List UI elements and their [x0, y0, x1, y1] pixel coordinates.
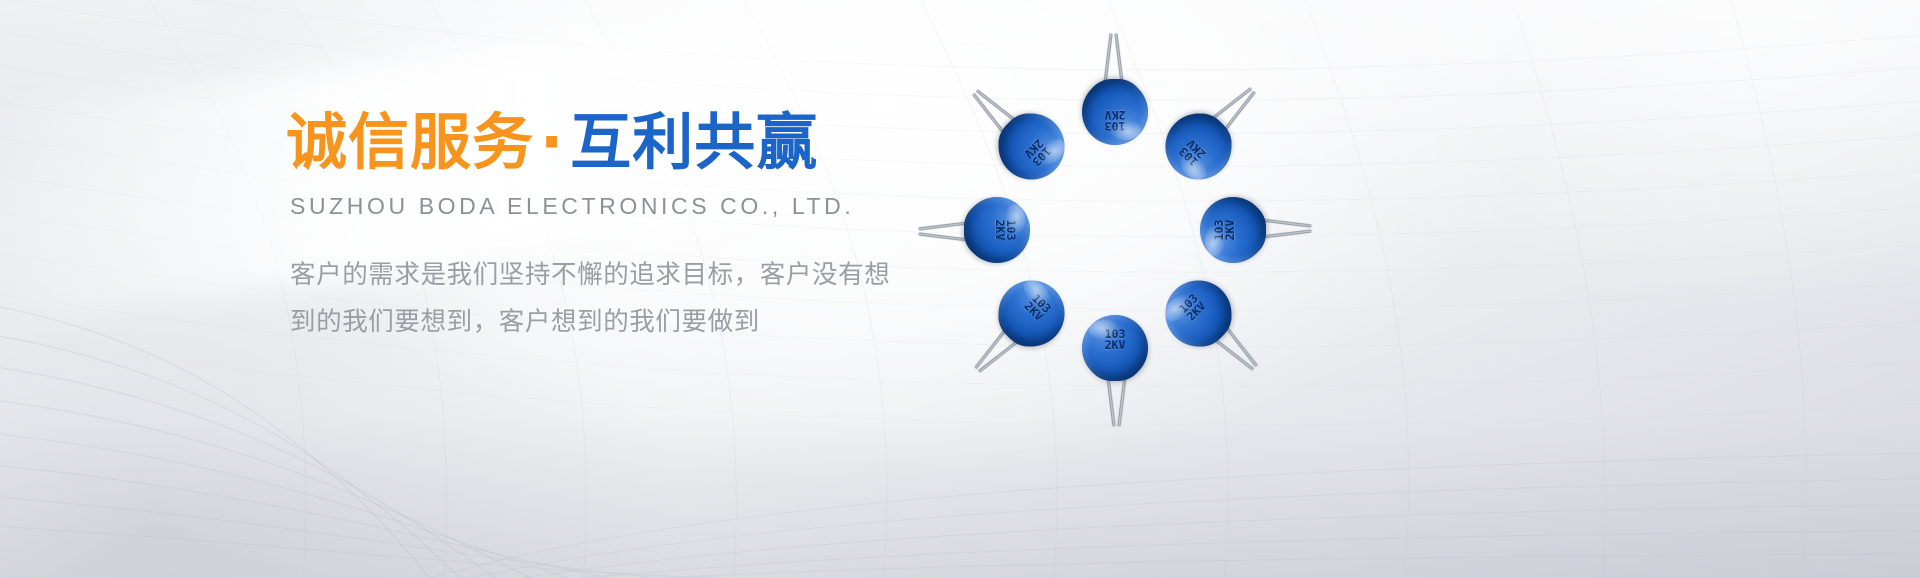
capacitor-marking: 1032KV — [1162, 121, 1224, 183]
capacitor-marking: 1032KV — [1082, 109, 1148, 131]
page-title: 诚信服务·互利共赢 — [286, 112, 988, 173]
capacitor-marking: 1032KV — [1006, 277, 1068, 339]
product-image-capacitor-ring: 1032KV1032KV1032KV1032KV1032KV1032KV1032… — [945, 60, 1285, 400]
description-line-2: 到的我们要想到，客户想到的我们要做到 — [290, 299, 988, 346]
capacitor-disc-body: 1032KV — [964, 197, 1030, 263]
hero-banner: 诚信服务·互利共赢 SUZHOU BODA ELECTRONICS CO., L… — [0, 0, 1920, 578]
capacitor-disc-body: 1032KV — [1152, 267, 1245, 360]
description-line-1: 客户的需求是我们坚持不懈的追求目标，客户没有想 — [290, 252, 988, 299]
headline-part-blue: 互利共赢 — [570, 107, 818, 178]
capacitor-disc-body: 1032KV — [1082, 315, 1148, 381]
capacitor-marking: 1032KV — [1214, 197, 1236, 263]
capacitor-disc-body: 1032KV — [985, 267, 1078, 360]
company-name-subtitle: SUZHOU BODA ELECTRONICS CO., LTD. — [290, 195, 988, 218]
headline-separator-dot: · — [534, 107, 570, 178]
capacitor-marking: 1032KV — [1162, 277, 1224, 339]
banner-copy-block: 诚信服务·互利共赢 SUZHOU BODA ELECTRONICS CO., L… — [288, 112, 988, 346]
capacitor-marking: 1032KV — [994, 197, 1016, 263]
capacitor-marking: 1032KV — [1082, 329, 1148, 351]
capacitor-disc-body: 1032KV — [985, 100, 1078, 193]
capacitor-disc-body: 1032KV — [1152, 100, 1245, 193]
capacitor-disc-body: 1032KV — [1082, 79, 1148, 145]
capacitor-disc-body: 1032KV — [1200, 197, 1266, 263]
capacitor-marking: 1032KV — [1006, 121, 1068, 183]
headline-part-orange: 诚信服务 — [286, 107, 534, 178]
banner-description: 客户的需求是我们坚持不懈的追求目标，客户没有想 到的我们要想到，客户想到的我们要… — [290, 252, 988, 346]
